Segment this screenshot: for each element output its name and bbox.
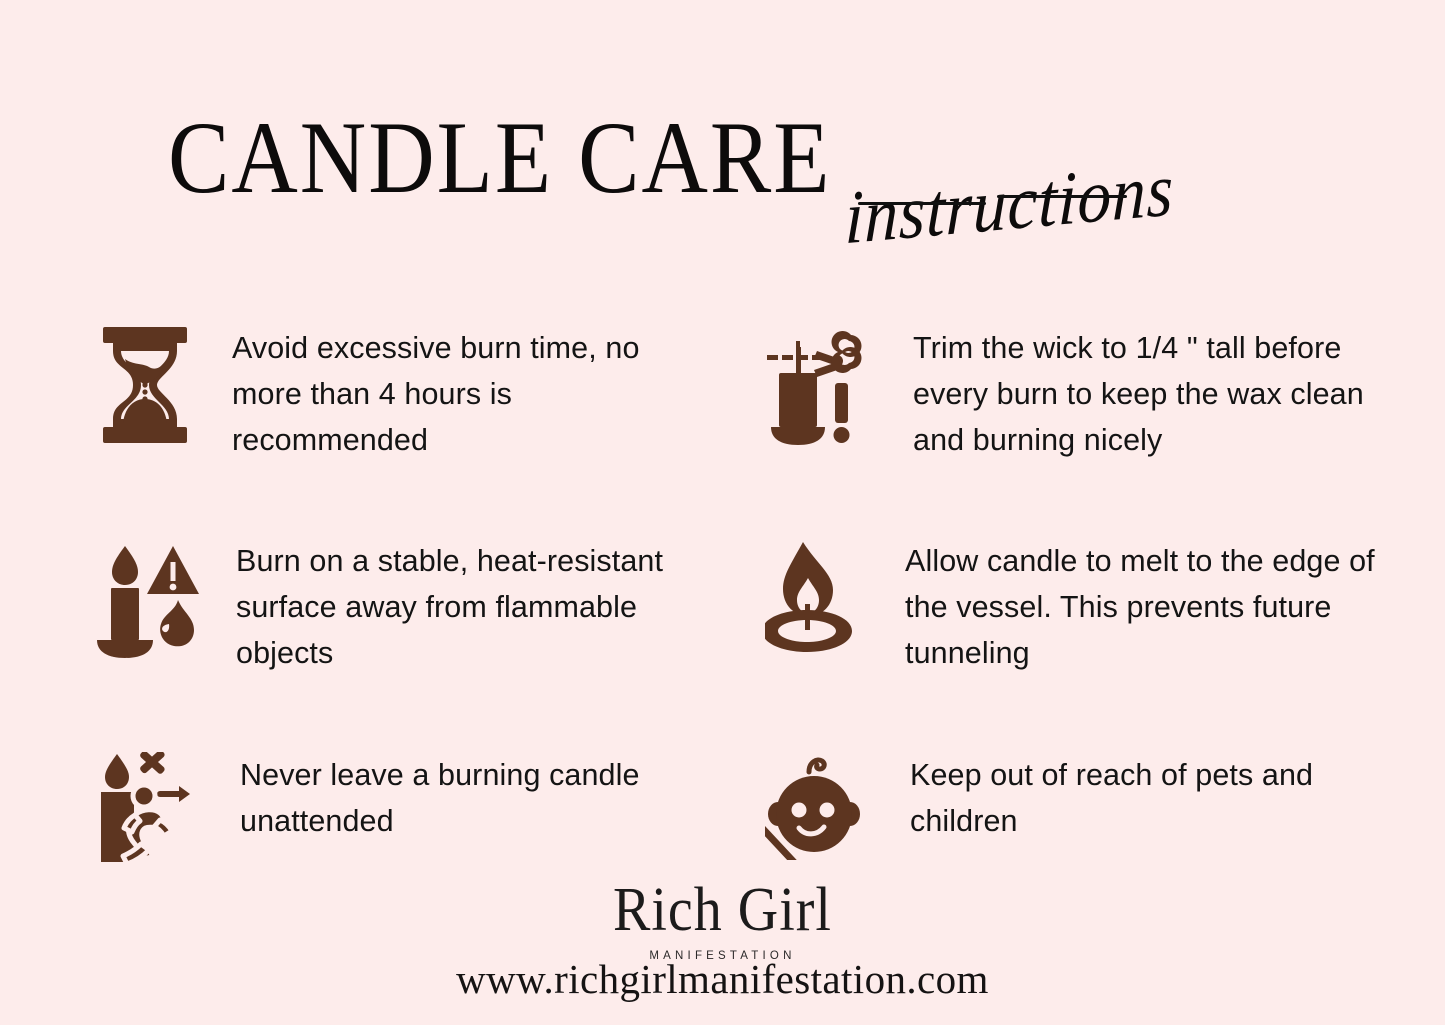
tip-item: Keep out of reach of pets and children — [765, 752, 1405, 865]
candle-vessel-flame-icon — [765, 538, 865, 661]
tip-item: Avoid excessive burn time, no more than … — [95, 325, 695, 463]
tip-text: Never leave a burning candle unattended — [240, 752, 695, 844]
script-heading-wrap: instructions — [845, 186, 1185, 286]
tip-item: Burn on a stable, heat-resistant surface… — [95, 538, 695, 676]
page-title: CANDLE CARE — [168, 106, 831, 209]
candle-care-card: CANDLE CARE instructions Avoid excessi — [0, 0, 1445, 1025]
script-crossbar-1 — [858, 202, 986, 205]
hourglass-icon — [95, 325, 195, 450]
candle-unattended-running-person-icon — [95, 752, 195, 869]
website-url: www.richgirlmanifestation.com — [0, 955, 1445, 1003]
tip-text: Avoid excessive burn time, no more than … — [232, 325, 695, 463]
tip-text: Trim the wick to 1/4 " tall before every… — [913, 325, 1405, 463]
tip-text: Burn on a stable, heat-resistant surface… — [236, 538, 695, 676]
tip-item: Never leave a burning candle unattended — [95, 752, 695, 869]
candle-warning-flame-icon — [95, 538, 199, 665]
brand-name: Rich Girl — [613, 876, 832, 943]
script-crossbar-2 — [997, 195, 1127, 198]
wick-trim-scissors-icon — [765, 325, 873, 450]
no-baby-icon — [765, 752, 865, 865]
tip-text: Keep out of reach of pets and children — [910, 752, 1405, 844]
tip-item: Allow candle to melt to the edge of the … — [765, 538, 1405, 676]
brand-logo: Rich Girl MANIFESTATION — [0, 880, 1445, 962]
tip-text: Allow candle to melt to the edge of the … — [905, 538, 1405, 676]
tip-item: Trim the wick to 1/4 " tall before every… — [765, 325, 1405, 463]
